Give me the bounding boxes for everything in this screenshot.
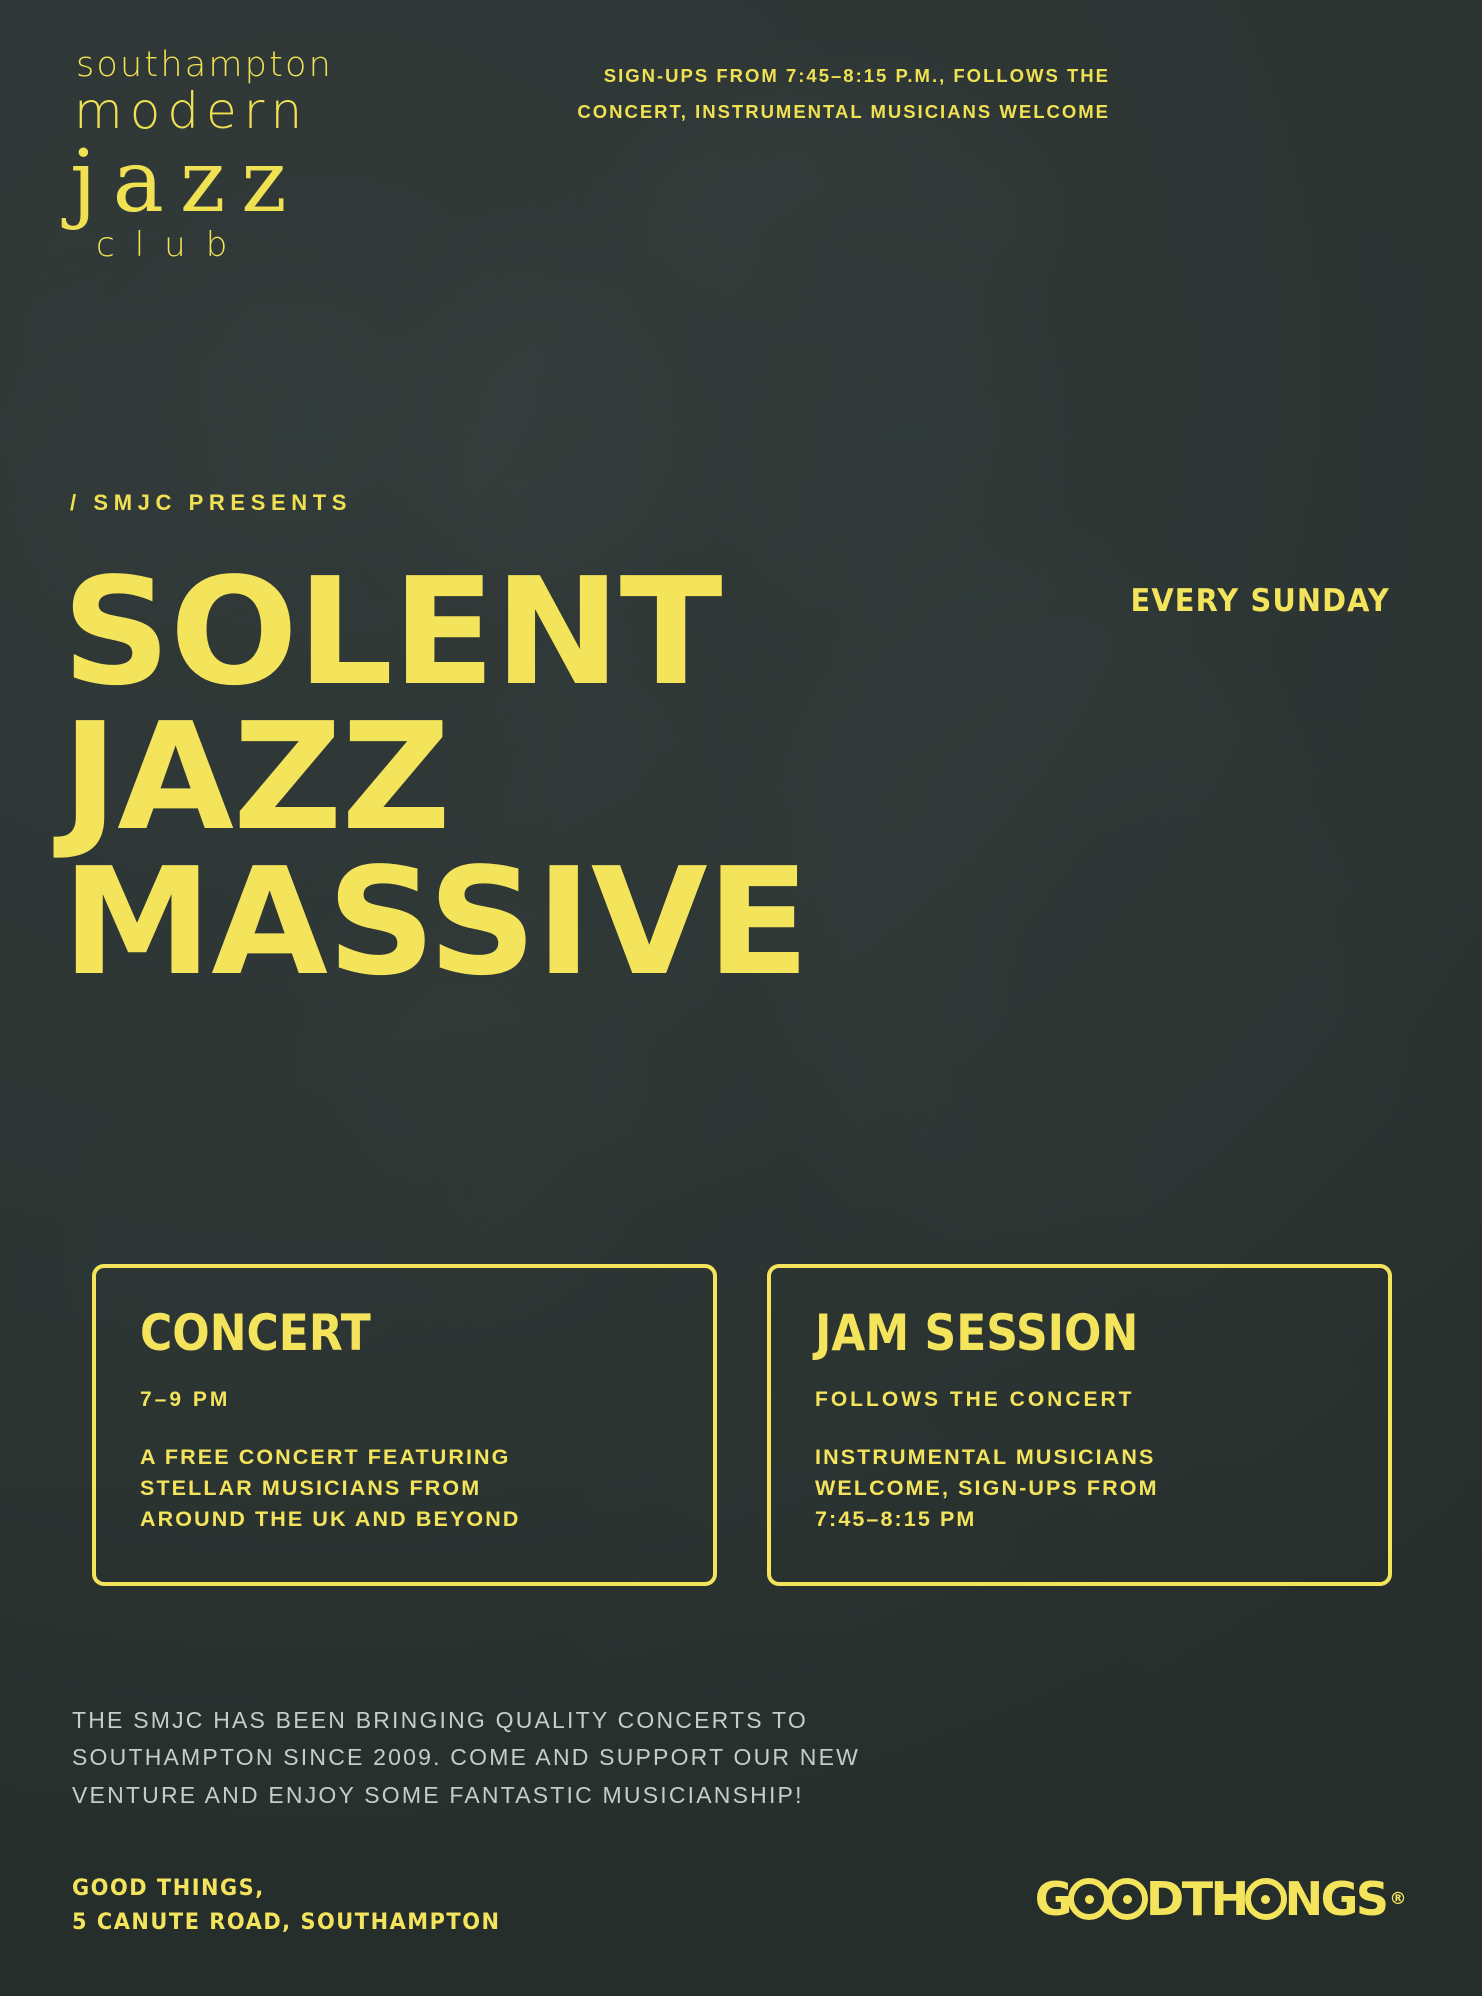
signup-notice: SIGN-UPS FROM 7:45–8:15 P.M., FOLLOWS TH… [470,58,1110,130]
signup-notice-line-1: SIGN-UPS FROM 7:45–8:15 P.M., FOLLOWS TH… [470,58,1110,94]
poster: southampton modern jazz club SIGN-UPS FR… [0,0,1482,1996]
frequency-badge: EVERY SUNDAY [1131,583,1390,619]
headline-line-2: JAZZ [62,705,817,850]
good-things-o2-icon [1106,1878,1148,1920]
venue-address: GOOD THINGS, 5 CANUTE ROAD, SOUTHAMPTON [72,1872,501,1940]
about-blurb: THE SMJC HAS BEEN BRINGING QUALITY CONCE… [72,1702,1072,1814]
card-jam-session-title: JAM SESSION [815,1308,1281,1358]
page-title: SOLENT JAZZ MASSIVE [62,560,817,995]
event-cards: CONCERT 7–9 PM A FREE CONCERT FEATURING … [92,1264,1392,1586]
venue-name: GOOD THINGS, [72,1872,501,1906]
good-things-i-dot-icon [1245,1878,1287,1920]
logo-line-southampton: southampton [70,48,400,83]
logo-line-club: club [70,227,400,264]
card-jam-session: JAM SESSION FOLLOWS THE CONCERT INSTRUME… [767,1264,1392,1586]
card-jam-session-time: FOLLOWS THE CONCERT [815,1388,1344,1412]
logo-line-modern: modern [70,83,400,139]
smjc-logo: southampton modern jazz club [70,48,400,264]
about-blurb-line-2: SOUTHAMPTON SINCE 2009. COME AND SUPPORT… [72,1739,1072,1776]
card-concert-time: 7–9 PM [140,1388,669,1412]
good-things-o1-icon [1068,1878,1110,1920]
card-jam-session-description-line-3: 7:45–8:15 PM [815,1504,1344,1535]
card-concert-description: A FREE CONCERT FEATURING STELLAR MUSICIA… [140,1442,669,1536]
registered-trademark-icon: ® [1390,1889,1405,1909]
card-jam-session-description-line-2: WELCOME, SIGN-UPS FROM [815,1473,1344,1504]
good-things-d: D [1146,1872,1182,1926]
headline-line-1: SOLENT [62,560,817,705]
about-blurb-line-3: VENTURE AND ENJOY SOME FANTASTIC MUSICIA… [72,1777,1072,1814]
card-concert: CONCERT 7–9 PM A FREE CONCERT FEATURING … [92,1264,717,1586]
card-jam-session-description-line-1: INSTRUMENTAL MUSICIANS [815,1442,1344,1473]
logo-line-jazz: jazz [70,139,400,227]
headline-line-3: MASSIVE [62,850,817,995]
good-things-g: G [1035,1872,1070,1926]
card-concert-description-line-1: A FREE CONCERT FEATURING [140,1442,669,1473]
card-concert-title: CONCERT [140,1308,606,1358]
good-things-logo: G D TH NGS ® [1035,1872,1404,1926]
good-things-th: TH [1182,1872,1247,1926]
signup-notice-line-2: CONCERT, INSTRUMENTAL MUSICIANS WELCOME [470,94,1110,130]
card-concert-description-line-2: STELLAR MUSICIANS FROM [140,1473,669,1504]
card-concert-description-line-3: AROUND THE UK AND BEYOND [140,1504,669,1535]
venue-street: 5 CANUTE ROAD, SOUTHAMPTON [72,1906,501,1940]
presents-kicker: / SMJC PRESENTS [70,490,352,516]
good-things-ngs: NGS [1285,1872,1387,1926]
good-things-wordmark: G D TH NGS ® [1035,1872,1404,1926]
about-blurb-line-1: THE SMJC HAS BEEN BRINGING QUALITY CONCE… [72,1702,1072,1739]
card-jam-session-description: INSTRUMENTAL MUSICIANS WELCOME, SIGN-UPS… [815,1442,1344,1536]
